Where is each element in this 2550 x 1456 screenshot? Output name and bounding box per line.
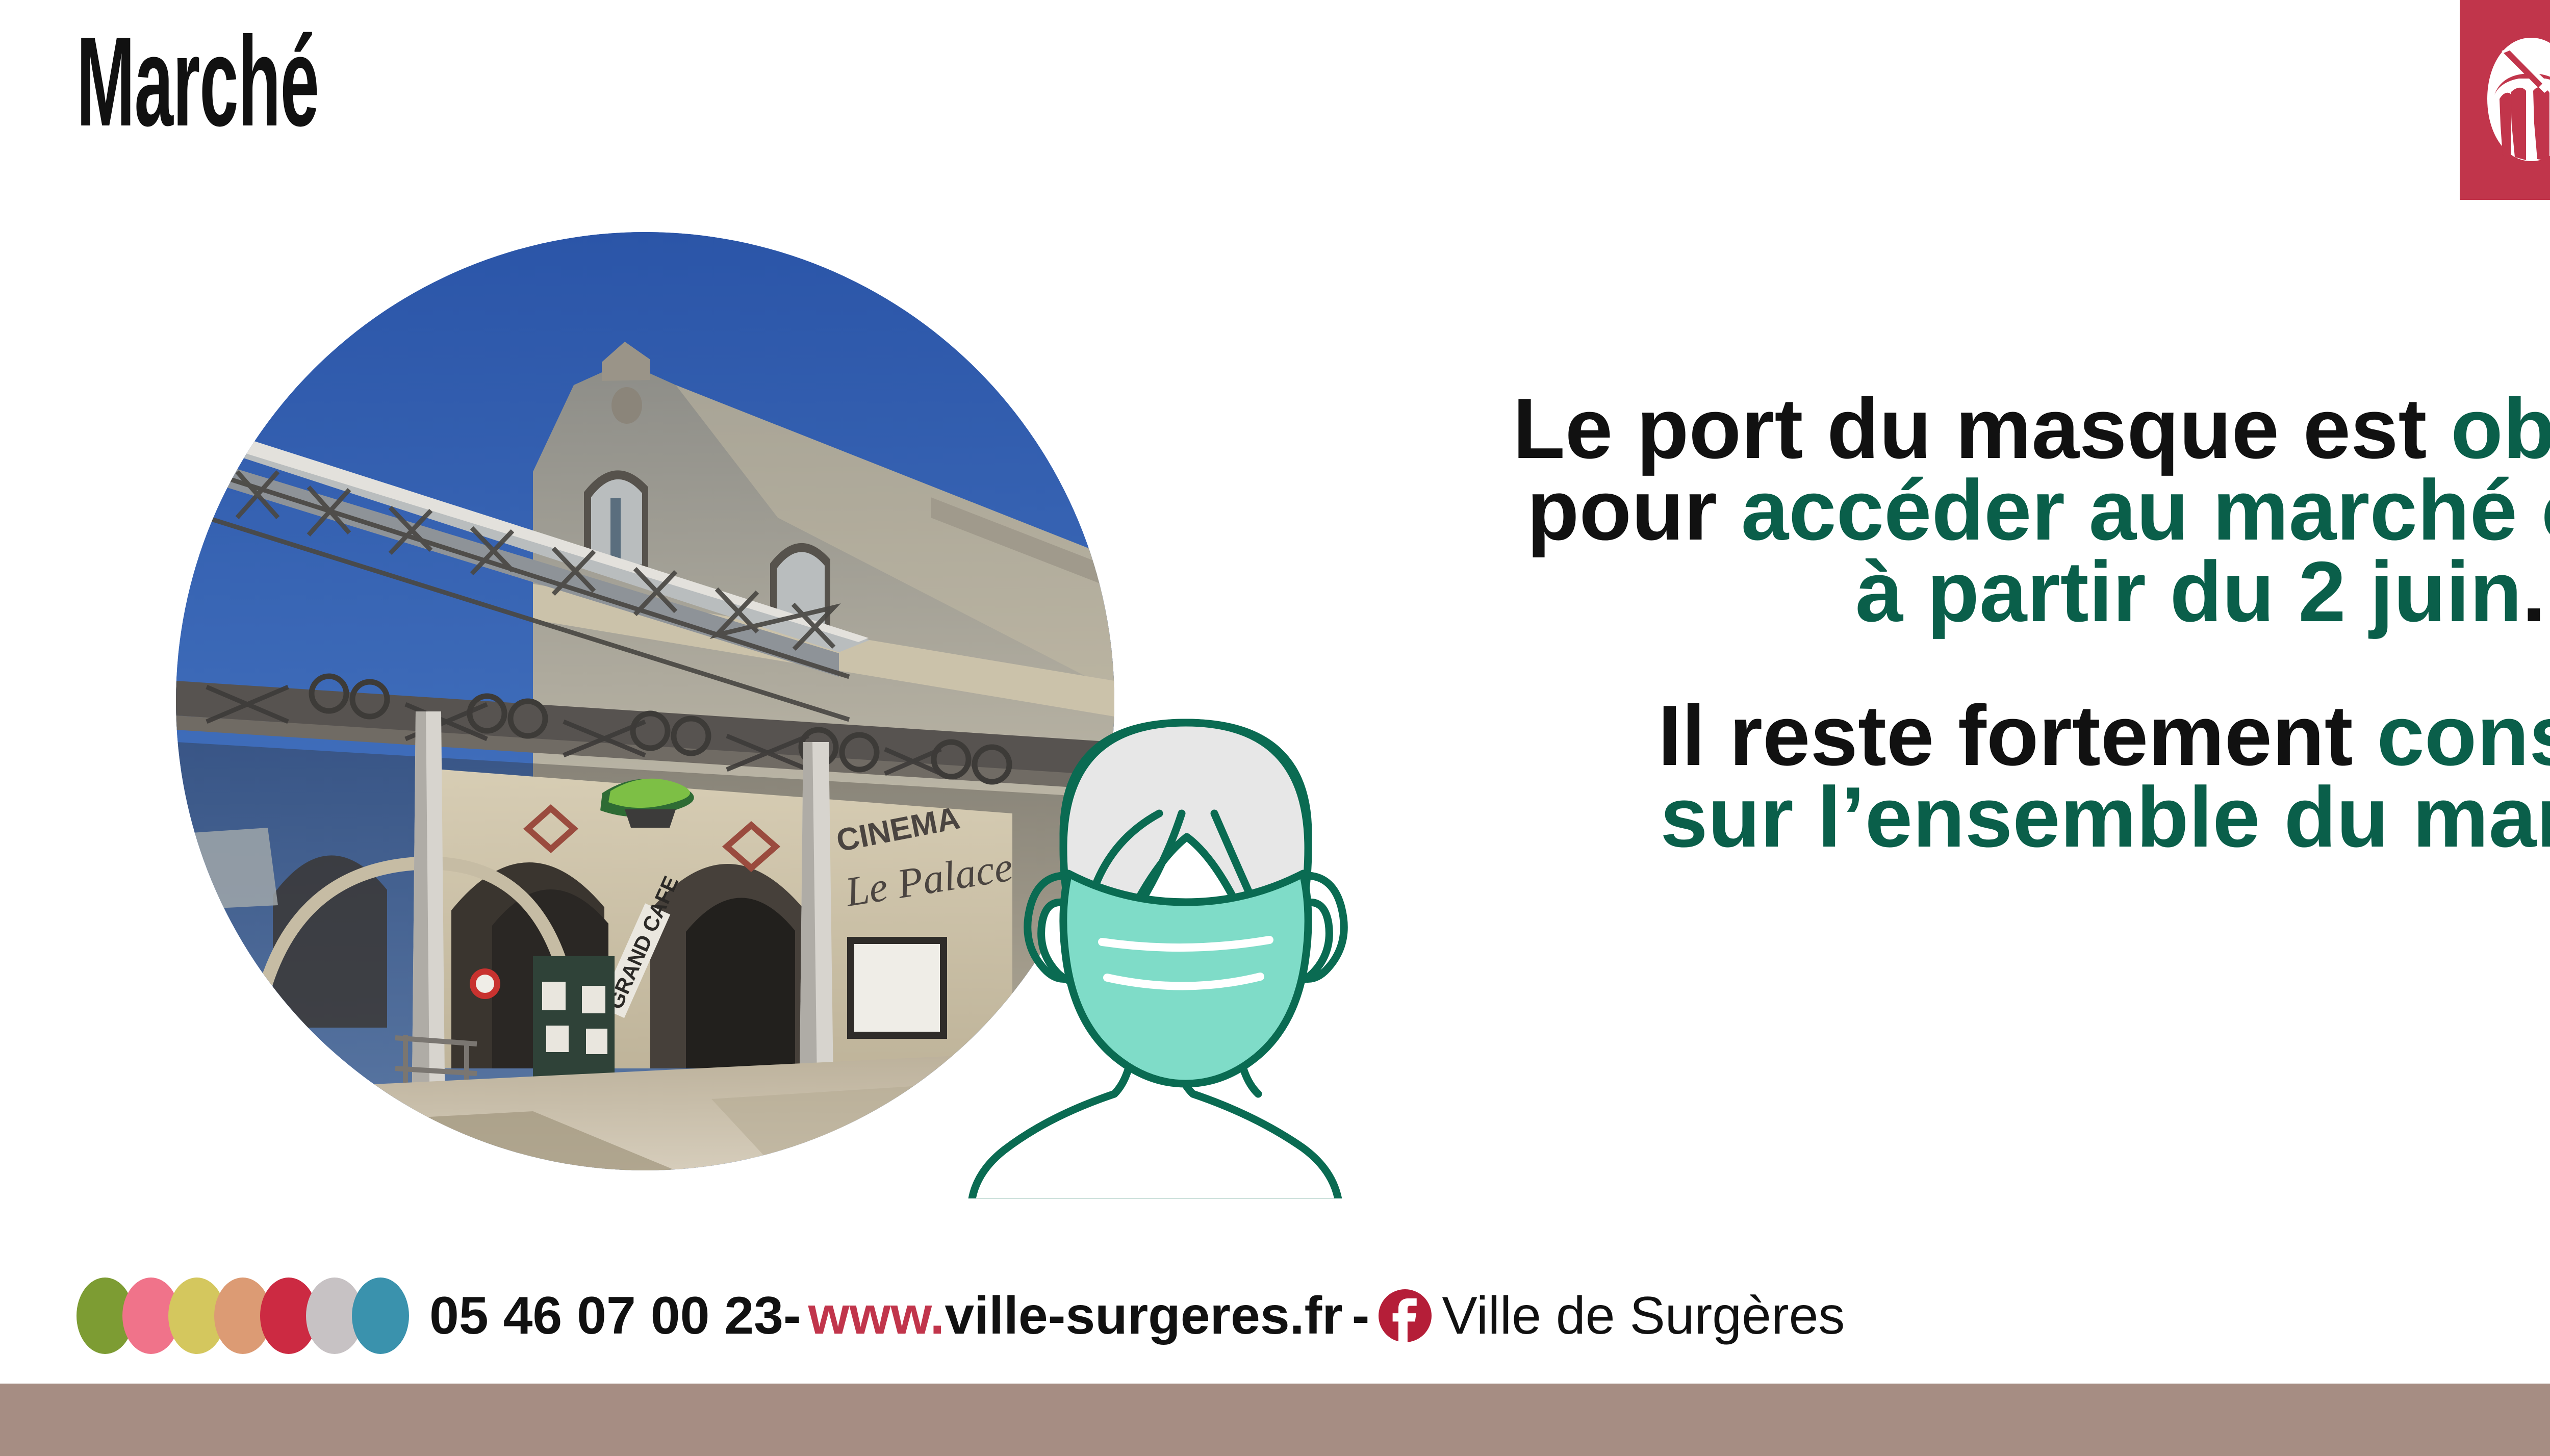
message-block: Le port du masque est obligatoire pour a… [1443,388,2550,858]
footer-website-domain[interactable]: ville-surgeres.fr [945,1286,1342,1346]
footer-social-name: Ville de Surgères [1442,1286,1845,1346]
footer-separator: - [1352,1286,1370,1346]
footer-contact-line: 05 46 07 00 23- www.ville-surgeres.fr - … [429,1286,2550,1346]
footer: 05 46 07 00 23- www.ville-surgeres.fr - … [0,1265,2550,1367]
message-seg: . [2522,544,2546,640]
page-title: Marché [76,18,319,145]
footer-color-dots [76,1278,398,1354]
message-paragraph-gap [1443,632,2550,695]
facebook-icon[interactable] [1379,1289,1432,1342]
message-line-4: Il reste fortement conseillé [1443,695,2550,776]
dot-teal [352,1278,409,1354]
message-line-5: sur l’ensemble du marché. [1443,776,2550,858]
person-wearing-mask-illustration [941,711,1431,1198]
footer-phone: 05 46 07 00 23- [429,1286,801,1346]
message-line-1: Le port du masque est obligatoire [1443,388,2550,469]
footer-website-prefix[interactable]: www. [808,1286,945,1346]
message-line-3: à partir du 2 juin. [1443,551,2550,632]
message-line-2: pour accéder au marché couvert, [1443,469,2550,551]
message-seg-highlight: à partir du 2 juin [1855,544,2522,640]
message-seg-highlight: sur l’ensemble du marché [1660,769,2550,865]
market-hall-emblem-icon [2480,34,2550,166]
bottom-accent-bar [0,1384,2550,1456]
message-seg: pour [1527,462,1741,558]
brand-logo-block: SURGÈRES la ville [2460,0,2550,200]
